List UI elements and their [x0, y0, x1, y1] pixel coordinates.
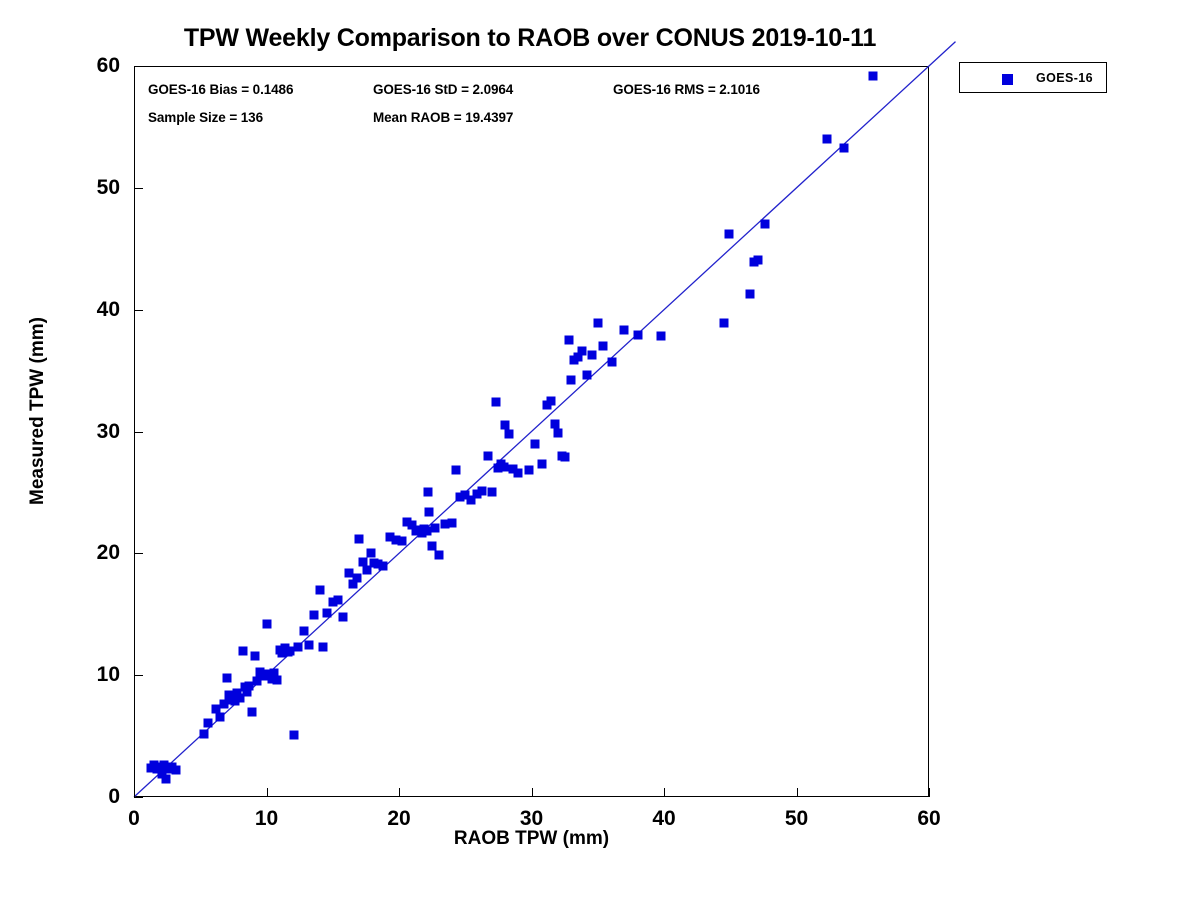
y-tick-label: 40 [97, 298, 120, 322]
scatter-point [323, 609, 332, 618]
scatter-point [379, 561, 388, 570]
y-tick-mark [134, 675, 143, 676]
scatter-point [425, 507, 434, 516]
scatter-point [339, 612, 348, 621]
scatter-point [491, 398, 500, 407]
y-tick-mark [134, 310, 143, 311]
scatter-point [161, 774, 170, 783]
scatter-point [290, 730, 299, 739]
scatter-point [822, 135, 831, 144]
scatter-point [567, 376, 576, 385]
scatter-point [869, 71, 878, 80]
x-tick-mark [797, 788, 798, 797]
scatter-point [299, 627, 308, 636]
plot-area: 01020304050600102030405060 [134, 66, 929, 797]
scatter-point [451, 466, 460, 475]
scatter-point [564, 336, 573, 345]
scatter-point [200, 729, 209, 738]
y-tick-label: 10 [97, 663, 120, 687]
scatter-point [448, 518, 457, 527]
scatter-point [724, 230, 733, 239]
legend-marker-icon [1002, 74, 1013, 85]
scatter-point [577, 347, 586, 356]
x-tick-mark [929, 788, 930, 797]
scatter-point [430, 523, 439, 532]
scatter-point [172, 766, 181, 775]
scatter-point [633, 331, 642, 340]
y-axis-label: Measured TPW (mm) [27, 251, 49, 571]
y-tick-mark [134, 553, 143, 554]
scatter-point [524, 466, 533, 475]
x-tick-mark [134, 788, 135, 797]
scatter-point [746, 289, 755, 298]
y-tick-mark [134, 432, 143, 433]
scatter-point [434, 550, 443, 559]
scatter-point [483, 451, 492, 460]
scatter-point [250, 651, 259, 660]
y-tick-mark [134, 66, 143, 67]
x-tick-mark [664, 788, 665, 797]
scatter-point [840, 143, 849, 152]
scatter-point [310, 611, 319, 620]
scatter-point [599, 342, 608, 351]
scatter-point [504, 429, 513, 438]
scatter-point [247, 707, 256, 716]
scatter-point [760, 220, 769, 229]
y-tick-label: 50 [97, 176, 120, 200]
scatter-point [222, 673, 231, 682]
scatter-point [238, 646, 247, 655]
x-tick-mark [267, 788, 268, 797]
scatter-point [657, 332, 666, 341]
scatter-point [593, 319, 602, 328]
scatter-point [334, 595, 343, 604]
x-tick-mark [532, 788, 533, 797]
y-tick-label: 30 [97, 420, 120, 444]
x-axis-label: RAOB TPW (mm) [134, 828, 929, 850]
x-tick-mark [399, 788, 400, 797]
scatter-point [499, 462, 508, 471]
scatter-point [262, 619, 271, 628]
y-tick-label: 60 [97, 54, 120, 78]
scatter-point [514, 468, 523, 477]
legend[interactable]: GOES-16 [959, 62, 1107, 93]
page-title: TPW Weekly Comparison to RAOB over CONUS… [0, 24, 1060, 53]
scatter-point [620, 326, 629, 335]
scatter-point [538, 460, 547, 469]
scatter-point [588, 350, 597, 359]
scatter-point [315, 585, 324, 594]
y-tick-label: 0 [108, 785, 120, 809]
y-tick-mark [134, 188, 143, 189]
y-tick-mark [134, 797, 143, 798]
scatter-point [216, 712, 225, 721]
figure-canvas: TPW Weekly Comparison to RAOB over CONUS… [0, 0, 1200, 900]
scatter-point [319, 643, 328, 652]
scatter-point [531, 439, 540, 448]
scatter-point [204, 718, 213, 727]
scatter-point [397, 537, 406, 546]
legend-item-label: GOES-16 [1036, 71, 1093, 85]
scatter-point [560, 453, 569, 462]
scatter-point [487, 488, 496, 497]
scatter-point [719, 319, 728, 328]
scatter-point [547, 397, 556, 406]
scatter-point [754, 255, 763, 264]
scatter-point [304, 640, 313, 649]
scatter-point [424, 488, 433, 497]
scatter-point [294, 643, 303, 652]
scatter-point [352, 573, 361, 582]
scatter-point [554, 428, 563, 437]
scatter-point [478, 487, 487, 496]
scatter-point [583, 371, 592, 380]
scatter-point [367, 549, 376, 558]
y-tick-label: 20 [97, 541, 120, 565]
scatter-point [355, 534, 364, 543]
scatter-point [608, 358, 617, 367]
scatter-point [273, 676, 282, 685]
